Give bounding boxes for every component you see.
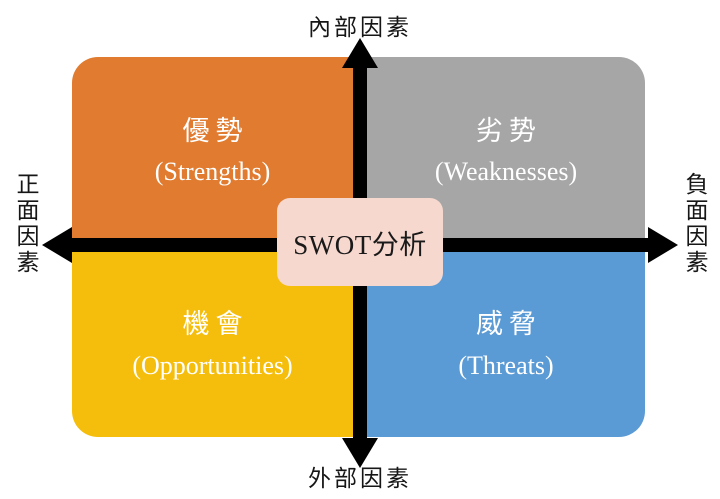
quadrant-strengths-en-label: (Strengths) bbox=[155, 155, 271, 188]
axis-caption-top: 內部因素 bbox=[0, 8, 720, 42]
swot-diagram: 優勢 (Strengths) 劣势 (Weaknesses) 機會 (Oppor… bbox=[0, 0, 720, 499]
axis-caption-bottom: 外部因素 bbox=[0, 459, 720, 493]
quadrant-strengths-cn-label: 優勢 bbox=[177, 114, 249, 149]
quadrant-weaknesses-en-label: (Weaknesses) bbox=[435, 155, 577, 188]
quadrant-weaknesses-cn-label: 劣势 bbox=[470, 114, 542, 149]
axis-caption-left: 正面因素 bbox=[14, 172, 37, 276]
axis-caption-right: 負面因素 bbox=[683, 172, 706, 276]
quadrant-opportunities-cn-label: 機會 bbox=[177, 307, 249, 342]
axis-caption-bottom-text: 外部因素 bbox=[308, 466, 412, 491]
center-label-swot[interactable]: SWOT分析 bbox=[277, 198, 443, 286]
quadrant-opportunities-en-label: (Opportunities) bbox=[132, 349, 292, 382]
center-label-text: SWOT分析 bbox=[293, 223, 427, 262]
quadrant-threats-en-label: (Threats) bbox=[458, 349, 553, 382]
quadrant-threats-cn-label: 威脅 bbox=[470, 307, 542, 342]
axis-caption-top-text: 內部因素 bbox=[308, 15, 412, 40]
